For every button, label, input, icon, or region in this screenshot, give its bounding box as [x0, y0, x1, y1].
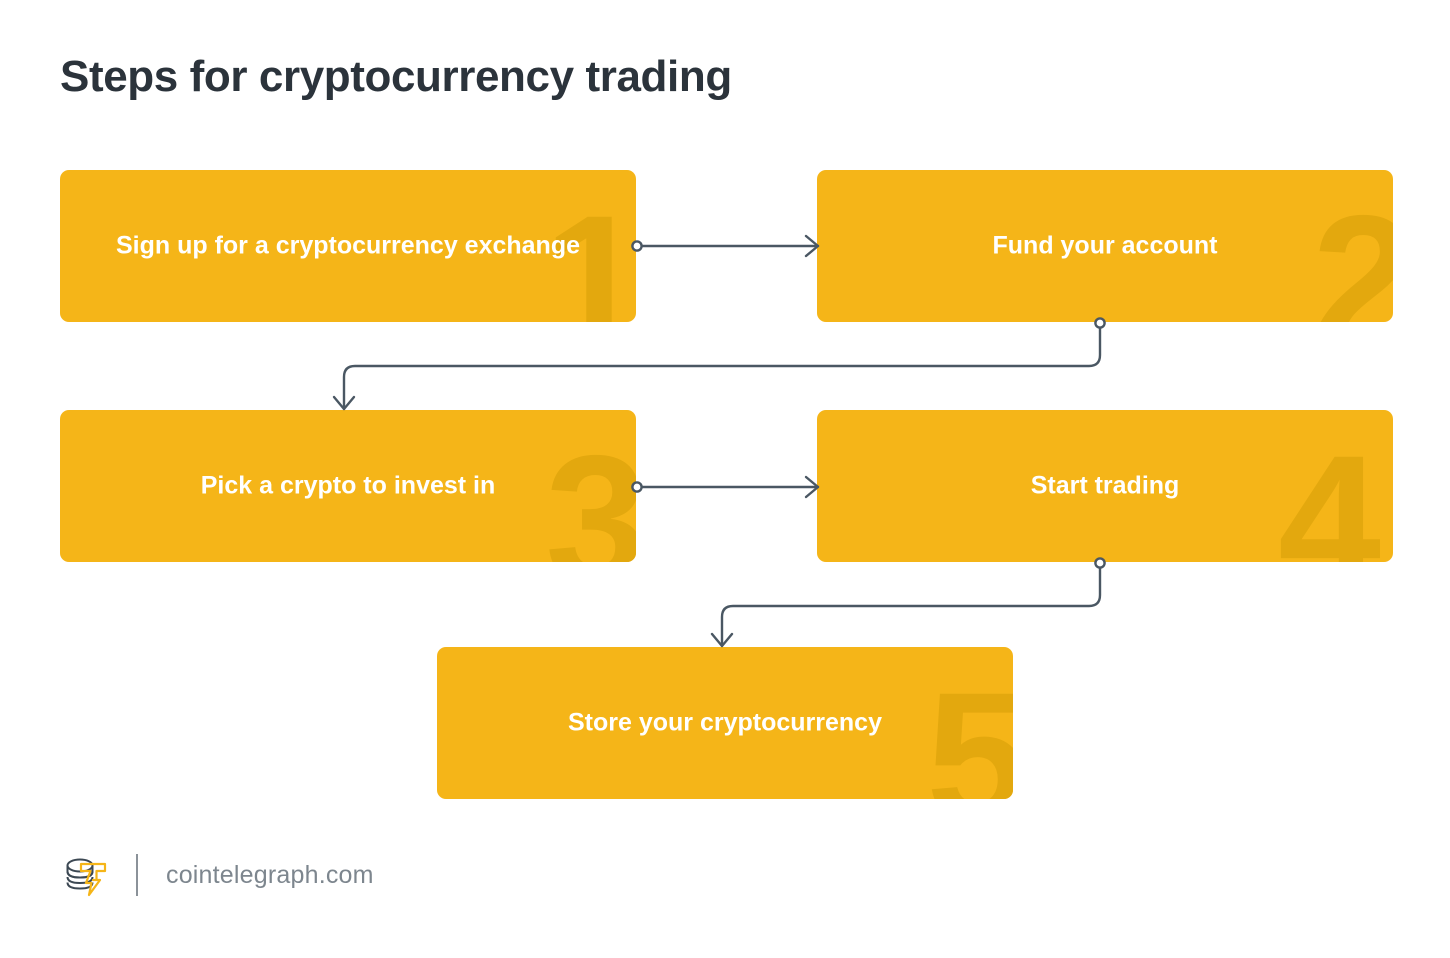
step-label-2: Fund your account	[817, 229, 1393, 264]
cointelegraph-coin-stack-logo-icon	[60, 850, 110, 900]
brand-divider	[136, 854, 138, 896]
step-label-4: Start trading	[817, 469, 1393, 504]
step-box-4: 4 Start trading	[817, 410, 1393, 562]
step-box-2: 2 Fund your account	[817, 170, 1393, 322]
page-title: Steps for cryptocurrency trading	[60, 52, 732, 102]
brand-name: cointelegraph.com	[166, 861, 374, 890]
connector-step-3-to-step-4	[632, 477, 818, 497]
step-label-5: Store your cryptocurrency	[437, 706, 1013, 741]
step-box-1: 1 Sign up for a cryptocurrency exchange	[60, 170, 636, 322]
connector-step-1-to-step-2	[632, 236, 818, 256]
step-box-3: 3 Pick a crypto to invest in	[60, 410, 636, 562]
step-label-1: Sign up for a cryptocurrency exchange	[60, 229, 636, 264]
step-label-3: Pick a crypto to invest in	[60, 469, 636, 504]
connector-step-2-to-step-3	[334, 318, 1105, 409]
connector-step-4-to-step-5	[712, 558, 1105, 646]
footer-brand: cointelegraph.com	[60, 845, 374, 905]
infographic-canvas: Steps for cryptocurrency trading 1 Sign …	[0, 0, 1450, 958]
step-box-5: 5 Store your cryptocurrency	[437, 647, 1013, 799]
